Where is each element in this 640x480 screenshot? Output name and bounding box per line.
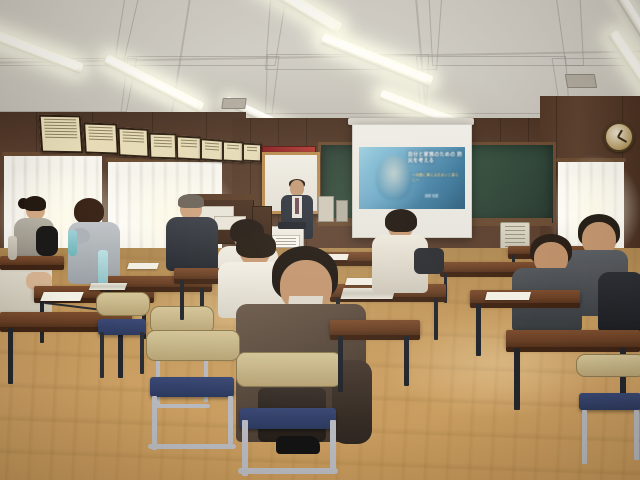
presentation-slide: 自分と家族のための 防災を考える ～地震に備える住まいと暮らし～ 講師 佐藤 bbox=[359, 147, 465, 209]
photograph: 自分と家族のための 防災を考える ～地震に備える住まいと暮らし～ 講師 佐藤 bbox=[0, 0, 640, 480]
water-bottle bbox=[98, 250, 108, 286]
table-leg bbox=[8, 328, 13, 384]
wall-clock bbox=[604, 122, 634, 152]
framed-certificate bbox=[117, 127, 149, 158]
chair-leg bbox=[634, 410, 639, 460]
chair-leg bbox=[582, 410, 587, 464]
framed-certificate bbox=[149, 133, 178, 160]
chair-foot bbox=[148, 444, 236, 449]
slide-title: 自分と家族のための 防災を考える bbox=[408, 152, 463, 164]
slide-subtitle: ～地震に備える住まいと暮らし～ bbox=[412, 173, 461, 183]
water-bottle bbox=[68, 230, 77, 256]
presenter-tie bbox=[295, 198, 299, 214]
table-leg bbox=[476, 304, 481, 356]
framed-certificate bbox=[39, 115, 84, 154]
handout bbox=[40, 292, 84, 301]
handout bbox=[89, 283, 128, 290]
ceiling-vent-1 bbox=[221, 98, 247, 109]
handout bbox=[485, 292, 531, 300]
bag bbox=[414, 248, 444, 274]
meeting-table bbox=[506, 330, 640, 348]
framed-certificate bbox=[222, 140, 244, 162]
table-leg bbox=[404, 336, 409, 386]
framed-certificate bbox=[200, 138, 224, 162]
water-bottle bbox=[8, 236, 17, 260]
framed-certificate bbox=[176, 135, 202, 160]
folding-chair bbox=[236, 352, 340, 448]
chair-leg bbox=[228, 396, 233, 444]
attendee-mid-dark bbox=[166, 196, 220, 272]
slide-credit: 講師 佐藤 bbox=[425, 194, 461, 198]
presenter-head bbox=[290, 180, 304, 196]
framed-certificate bbox=[242, 142, 262, 162]
meeting-table bbox=[330, 320, 420, 336]
attendee-far-right bbox=[598, 262, 640, 332]
equipment-box bbox=[318, 196, 334, 222]
framed-certificate bbox=[83, 122, 119, 154]
chair-leg bbox=[140, 332, 144, 374]
attendee-right-dark bbox=[512, 238, 584, 330]
chair-leg bbox=[152, 396, 157, 450]
table-leg bbox=[338, 336, 343, 392]
table-leg bbox=[434, 298, 438, 340]
chair-foot bbox=[238, 468, 338, 474]
slide-figure bbox=[376, 156, 412, 201]
chair-leg bbox=[330, 420, 336, 470]
handout bbox=[127, 263, 159, 269]
table-leg bbox=[514, 348, 520, 410]
laptop bbox=[278, 222, 306, 229]
table-leg bbox=[180, 280, 184, 320]
chair-leg bbox=[100, 332, 104, 378]
folding-chair bbox=[146, 330, 238, 414]
speaker bbox=[336, 200, 348, 222]
ceiling-vent-2 bbox=[565, 74, 597, 88]
